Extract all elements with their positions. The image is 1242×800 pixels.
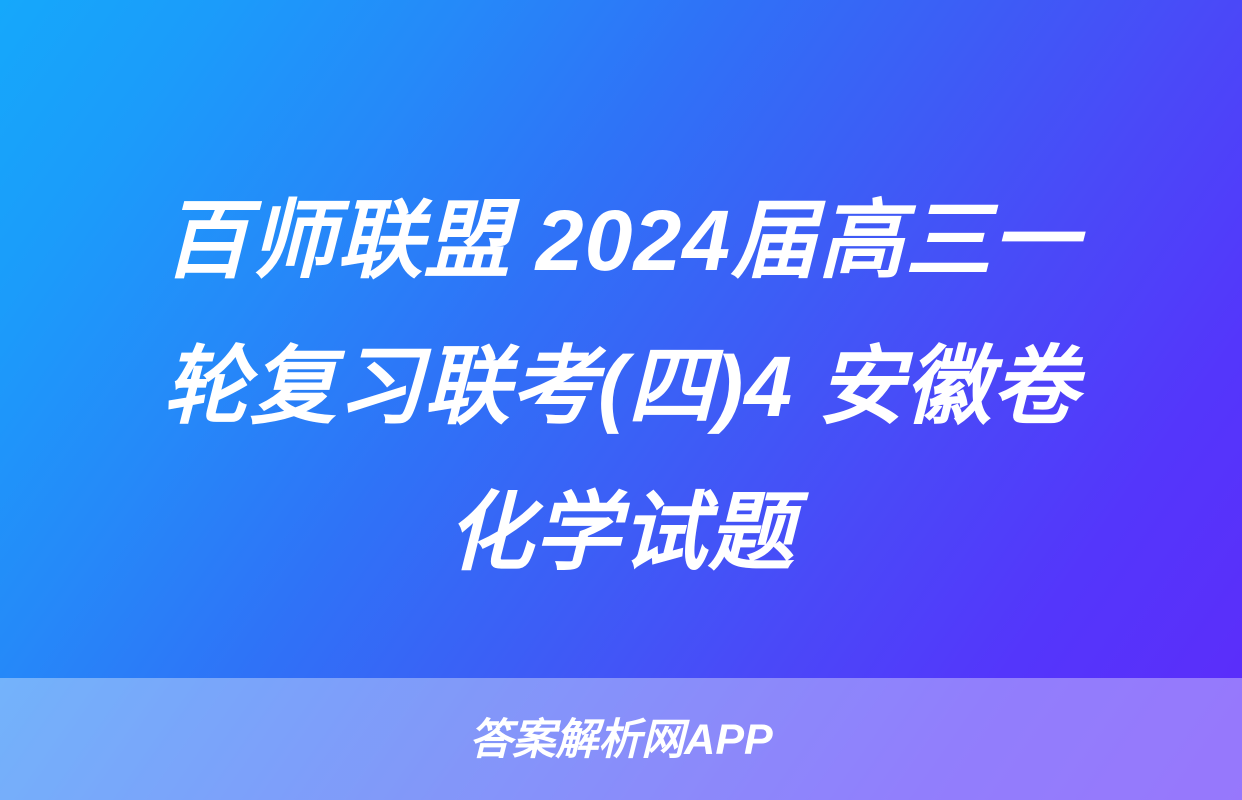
watermark-label: 答案解析网APP (469, 719, 772, 762)
watermark-band: 答案解析网APP (0, 678, 1242, 800)
title-line-2: 轮复习联考(四)4 安徽卷 (70, 314, 1172, 460)
title-line-1: 百师联盟 2024届高三一 (70, 168, 1172, 314)
page-title: 百师联盟 2024届高三一 轮复习联考(四)4 安徽卷 化学试题 (0, 168, 1242, 606)
poster-canvas: 百师联盟 2024届高三一 轮复习联考(四)4 安徽卷 化学试题 答案解析网AP… (0, 0, 1242, 800)
title-line-3: 化学试题 (70, 460, 1172, 606)
